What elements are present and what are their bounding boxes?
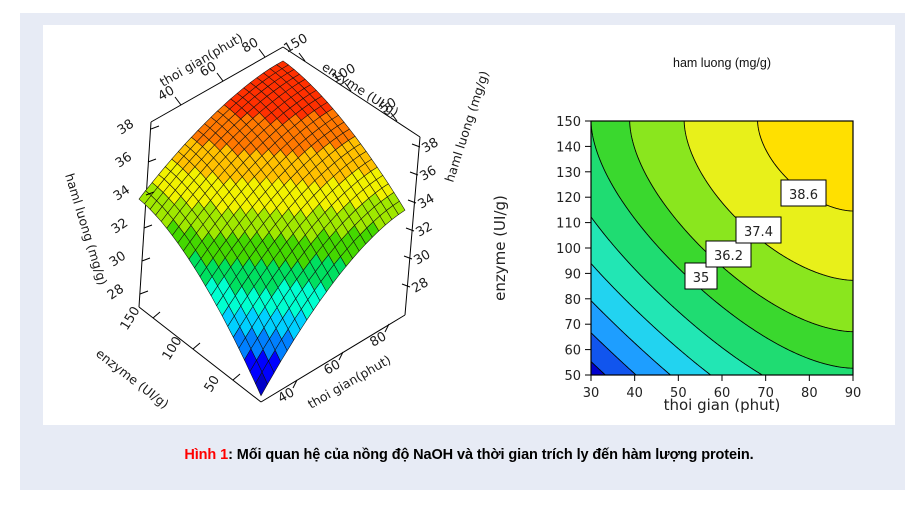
- contour-ytick-80: 80: [564, 293, 581, 308]
- surface-xaxis-title-back: thoi gian(phut): [157, 30, 245, 90]
- contour-xtick-80: 80: [801, 386, 818, 401]
- surface-ytick-50-front: 50: [202, 373, 223, 395]
- contour-label-35-text: 35: [693, 271, 710, 286]
- surface-ticks-bottom-left: 150 100 50 enzyme (UI/g): [93, 304, 240, 412]
- figure-caption-text: : Mối quan hệ của nồng độ NaOH và thời g…: [228, 447, 754, 463]
- surface-ztick-30-left: 30: [107, 249, 129, 271]
- contour-2d-svg: ham luong (mg/g) 50607080901001101201301…: [463, 35, 895, 420]
- figure-caption: Hình 1: Mối quan hệ của nồng độ NaOH và …: [43, 447, 895, 463]
- surface-xtick-80: 80: [240, 35, 262, 56]
- contour-label-38-6-text: 38.6: [789, 188, 818, 203]
- figure-number: Hình 1: [184, 447, 228, 463]
- surface-ytick-150-front: 150: [118, 304, 144, 333]
- contour-ytick-60: 60: [564, 344, 581, 359]
- contour-label-36-2: 36.2: [706, 241, 751, 267]
- surface-ztick-28-left: 28: [105, 282, 127, 304]
- surface-ztick-32-right: 32: [414, 219, 436, 240]
- contour-yaxis-title: enzyme (UI/g): [491, 195, 509, 301]
- surface-ztick-36-right: 36: [418, 163, 440, 184]
- surface-ytick-150: 150: [282, 31, 311, 56]
- contour-ytick-50: 50: [564, 369, 581, 384]
- contour-ytick-120: 120: [556, 191, 581, 206]
- surface-xtick-80-front: 80: [368, 329, 390, 350]
- surface-ztick-36-left: 36: [113, 150, 135, 172]
- contour-title: ham luong (mg/g): [673, 56, 771, 70]
- contour-y-axis: 5060708090100110120130140150: [556, 115, 591, 384]
- contour-label-37-4: 37.4: [736, 217, 781, 243]
- surface-ztick-28-right: 28: [410, 275, 432, 296]
- surface-3d-plot: 40 60 80 thoi gian(phut) 150 100 50 enzy…: [43, 25, 473, 425]
- contour-label-36-2-text: 36.2: [714, 249, 743, 264]
- surface-xtick-40-front: 40: [276, 385, 298, 406]
- surface-zaxis-title-left: haml luong (mg/g): [62, 171, 110, 286]
- contour-label-37-4-text: 37.4: [744, 225, 773, 240]
- contour-xtick-30: 30: [583, 386, 600, 401]
- surface-ztick-32-left: 32: [109, 216, 131, 238]
- surface-ztick-34-right: 34: [416, 191, 438, 212]
- surface-ytick-100-front: 100: [160, 334, 186, 363]
- contour-ytick-130: 130: [556, 166, 581, 181]
- surface-ztick-30-right: 30: [412, 247, 434, 268]
- surface-3d-svg: 40 60 80 thoi gian(phut) 150 100 50 enzy…: [43, 25, 473, 425]
- contour-ytick-90: 90: [564, 267, 581, 282]
- contour-ytick-70: 70: [564, 318, 581, 333]
- surface-ztick-34-left: 34: [111, 183, 133, 205]
- contour-ytick-110: 110: [556, 217, 581, 232]
- surface-ztick-38-right: 38: [420, 135, 442, 156]
- contour-label-38-6: 38.6: [781, 180, 826, 206]
- figure-page: 40 60 80 thoi gian(phut) 150 100 50 enzy…: [0, 0, 910, 518]
- contour-xaxis-title: thoi gian (phut): [664, 396, 781, 414]
- figure-white-panel: 40 60 80 thoi gian(phut) 150 100 50 enzy…: [43, 25, 895, 425]
- surface-ticks-left-z: 38 36 34 32 30 28 haml luong (mg/g): [62, 117, 159, 304]
- contour-ytick-100: 100: [556, 242, 581, 257]
- contour-ytick-150: 150: [556, 115, 581, 130]
- contour-xtick-40: 40: [626, 386, 643, 401]
- surface-xaxis-title-front: thoi gian(phut): [305, 352, 393, 412]
- contour-2d-plot: ham luong (mg/g) 50607080901001101201301…: [463, 35, 895, 420]
- contour-ytick-140: 140: [556, 140, 581, 155]
- surface-xtick-60-front: 60: [322, 357, 344, 378]
- contour-xtick-90: 90: [845, 386, 862, 401]
- surface-ztick-38-left: 38: [115, 117, 137, 139]
